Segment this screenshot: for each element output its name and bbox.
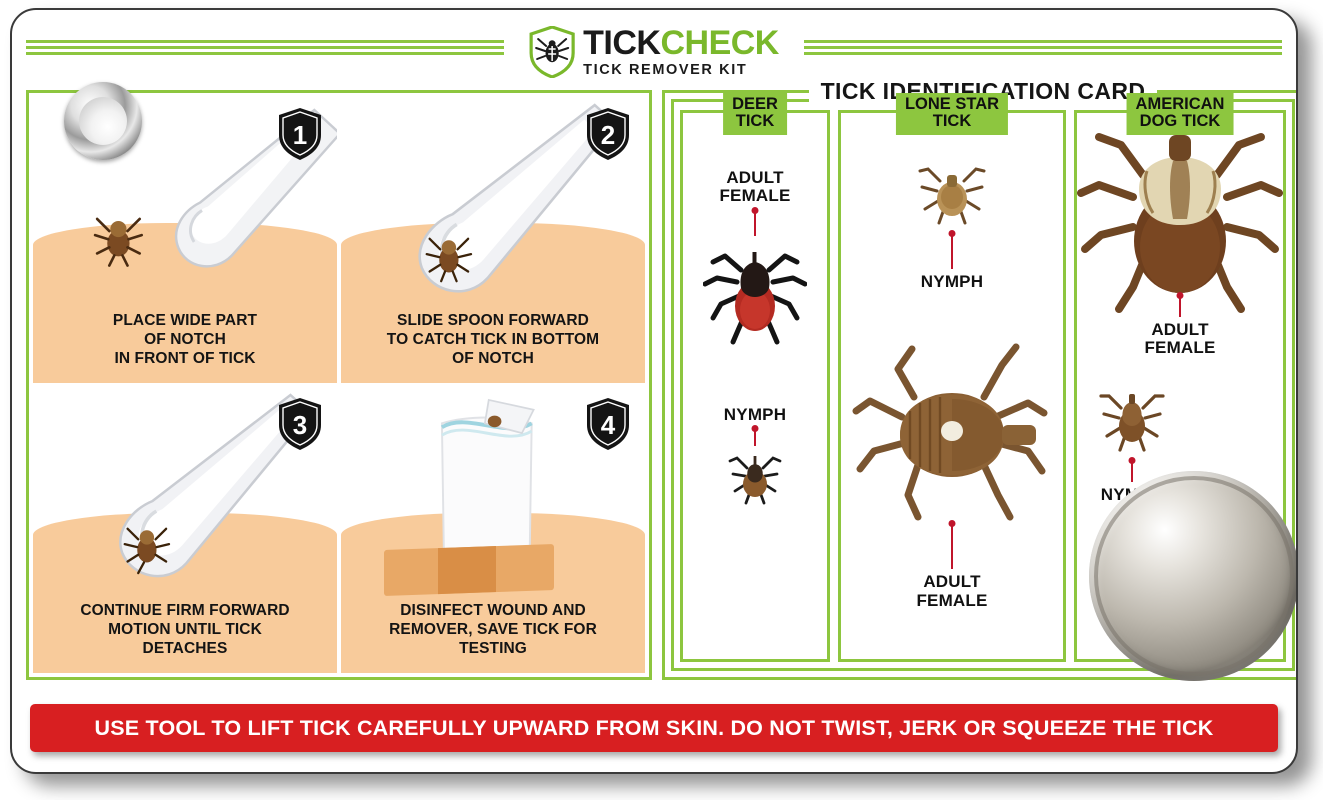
- column-lone-star-tick: LONE STARTICK: [838, 110, 1066, 662]
- leader-line: [1131, 460, 1134, 482]
- lone-star-nymph-label: NYMPH: [921, 273, 983, 291]
- deer-tick-adult-female-icon: [703, 234, 807, 348]
- step-4: 4 DISINFECT WOUND ANDREMOVER, SAVE TICK …: [341, 387, 645, 673]
- american-dog-tick-nymph-icon: [1096, 384, 1168, 460]
- card-header: TICKCHECK TICK REMOVER KIT: [12, 10, 1296, 88]
- column-label-lone-star-tick: LONE STARTICK: [896, 93, 1008, 135]
- removal-steps-panel: 1 PLACE WIDE PARTOF NOTCHIN FRONT OF TIC…: [26, 90, 652, 680]
- step-3: 3 CONTINUE FIRM FORWARDMOTION UNTIL TICK…: [33, 387, 337, 673]
- step-4-caption: DISINFECT WOUND ANDREMOVER, SAVE TICK FO…: [347, 602, 639, 659]
- shield-number-2-icon: 2: [585, 107, 631, 161]
- column-label-deer-tick: DEERTICK: [723, 93, 787, 135]
- screenshot-root: TICKCHECK TICK REMOVER KIT: [0, 0, 1323, 800]
- column-american-dog-tick: AMERICANDOG TICK: [1074, 110, 1286, 662]
- warning-banner: USE TOOL TO LIFT TICK CAREFULLY UPWARD F…: [30, 704, 1278, 752]
- warning-banner-text: USE TOOL TO LIFT TICK CAREFULLY UPWARD F…: [95, 716, 1214, 741]
- svg-text:3: 3: [293, 410, 307, 440]
- shield-tick-icon: [529, 26, 575, 78]
- lone-star-tick-adult-female-icon: [852, 339, 1052, 529]
- step-2-caption: SLIDE SPOON FORWARDTO CATCH TICK IN BOTT…: [347, 312, 639, 369]
- logo-word-tick: TICK: [583, 24, 660, 62]
- alcohol-wipe-packet-icon: [426, 398, 548, 564]
- shield-number-4-icon: 4: [585, 397, 631, 451]
- svg-text:2: 2: [601, 120, 615, 150]
- leader-line: [951, 233, 954, 269]
- column-deer-tick: DEERTICK ADULTFEMALE: [680, 110, 830, 662]
- deer-tick-nymph-icon: [725, 446, 785, 508]
- card-body: 1 PLACE WIDE PARTOF NOTCHIN FRONT OF TIC…: [26, 90, 1282, 680]
- logo-word-check: CHECK: [660, 24, 778, 62]
- leader-line: [951, 523, 954, 569]
- step-2: 2 SLIDE SPOON FORWARDTO CATCH TICK IN BO…: [341, 97, 645, 383]
- tick-icon: [420, 217, 478, 291]
- tick-icon: [88, 200, 149, 274]
- svg-text:4: 4: [601, 410, 616, 440]
- svg-text:1: 1: [293, 120, 307, 150]
- lone-star-tick-nymph-icon: [912, 155, 992, 233]
- shield-number-3-icon: 3: [277, 397, 323, 451]
- tick-remover-card: TICKCHECK TICK REMOVER KIT: [10, 8, 1298, 774]
- header-stripes-left: [26, 40, 504, 62]
- shield-number-1-icon: 1: [277, 107, 323, 161]
- brand-logo: TICKCHECK TICK REMOVER KIT: [529, 26, 779, 78]
- bandage-icon: [384, 544, 554, 596]
- dime-coin-icon: [1089, 471, 1298, 681]
- dog-adult-female-label: ADULTFEMALE: [1144, 321, 1215, 358]
- tick-icon: [118, 507, 176, 581]
- step-3-caption: CONTINUE FIRM FORWARDMOTION UNTIL TICKDE…: [39, 602, 331, 659]
- leader-line: [1179, 295, 1182, 317]
- eyelet-hole-icon: [64, 82, 142, 160]
- deer-adult-female-label: ADULTFEMALE: [719, 169, 790, 206]
- lone-star-adult-female-label: ADULTFEMALE: [916, 573, 987, 610]
- header-stripes-right: [804, 40, 1282, 62]
- deer-nymph-label: NYMPH: [724, 406, 786, 424]
- leader-line: [754, 210, 757, 236]
- step-1-caption: PLACE WIDE PARTOF NOTCHIN FRONT OF TICK: [39, 312, 331, 369]
- logo-subtitle: TICK REMOVER KIT: [583, 62, 747, 78]
- tick-identification-panel: TICK IDENTIFICATION CARD DEERTICK ADULTF…: [662, 90, 1298, 680]
- column-label-american-dog-tick: AMERICANDOG TICK: [1127, 93, 1234, 135]
- leader-line: [754, 428, 757, 446]
